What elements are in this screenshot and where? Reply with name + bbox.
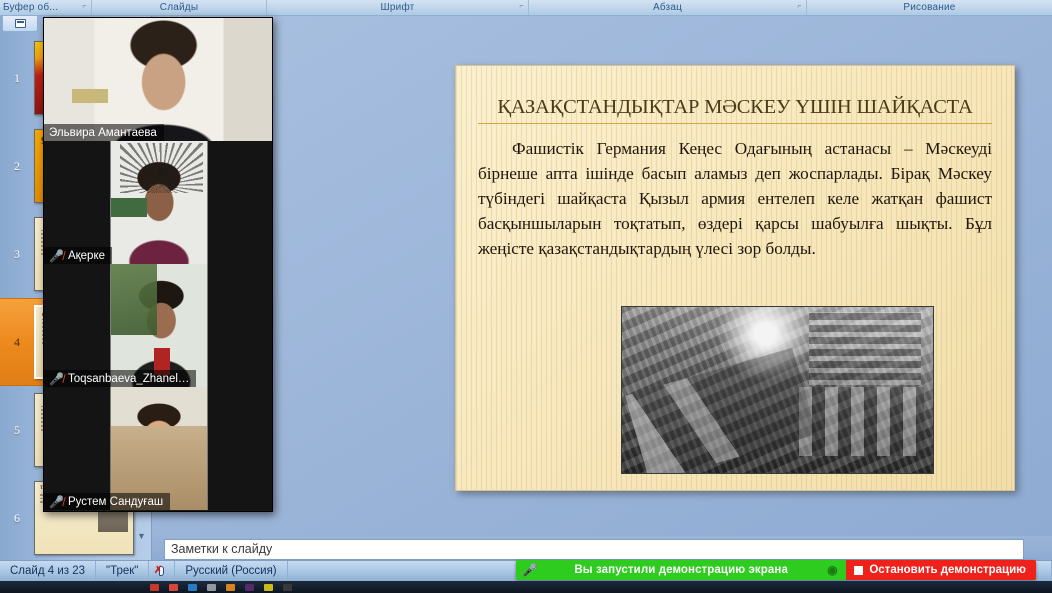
thumbnail-number: 3 [0, 247, 34, 262]
participant-name: Ақерке [68, 250, 105, 262]
stop-share-label: Остановить демонстрацию [869, 564, 1026, 576]
video-tile-participant-3[interactable]: 🎤̸ Toqsanbaeva_Zhanel… [44, 264, 273, 387]
screen-share-bar: 🎤 Вы запустили демонстрацию экрана ◉ Ост… [516, 560, 1036, 580]
wwii-battle-photo[interactable] [621, 306, 934, 474]
share-status-text: Вы запустили демонстрацию экрана [544, 564, 818, 576]
participant-video-feed [44, 141, 273, 264]
powerpoint-window: Буфер об... ⌐ Слайды Шрифт ⌐ Абзац ⌐ Рис… [0, 0, 1052, 593]
ribbon-group-clipboard[interactable]: Буфер об... ⌐ [0, 0, 92, 15]
video-tile-participant-4[interactable]: 🎤̸ Рустем Сандуғаш [44, 387, 273, 510]
mic-muted-icon: 🎤̸ [49, 373, 64, 385]
mic-muted-icon: 🎤̸ [49, 496, 64, 508]
shield-icon[interactable]: ◉ [818, 563, 846, 577]
current-slide[interactable]: ҚАЗАҚСТАНДЫҚТАР МӘСКЕУ ҮШІН ШАЙҚАСТА Фаш… [455, 65, 1015, 491]
stop-square-icon [854, 566, 863, 575]
ribbon-group-drawing[interactable]: Рисование [807, 0, 1052, 15]
slide-editing-stage[interactable]: ҚАЗАҚСТАНДЫҚТАР МӘСКЕУ ҮШІН ШАЙҚАСТА Фаш… [152, 16, 1052, 536]
ribbon-group-drawing-label: Рисование [903, 2, 955, 13]
spellcheck-icon[interactable]: ✗ [149, 561, 175, 582]
dialog-launcher-icon[interactable]: ⌐ [80, 2, 89, 11]
scroll-down-icon[interactable]: ▼ [135, 530, 148, 543]
participant-name-badge: Эльвира Амантаева [44, 124, 164, 141]
theme-name[interactable]: "Трек" [96, 561, 149, 582]
notes-pane-wrapper: Заметки к слайду [152, 536, 1052, 560]
taskbar-item[interactable] [245, 584, 254, 591]
taskbar-item[interactable] [264, 584, 273, 591]
video-tile-participant-2[interactable]: 🎤̸ Ақерке [44, 141, 273, 264]
slide-body-text[interactable]: Фашистік Германия Кеңес Одағының астанас… [478, 136, 992, 261]
ribbon-groups-strip: Буфер об... ⌐ Слайды Шрифт ⌐ Абзац ⌐ Рис… [0, 0, 1052, 16]
participant-video-feed [44, 264, 273, 387]
mic-muted-icon: 🎤̸ [49, 250, 64, 262]
participant-name: Toqsanbaeva_Zhanel… [68, 373, 189, 385]
participant-name-badge: 🎤̸ Ақерке [44, 247, 112, 264]
slides-tab-icon[interactable] [2, 16, 38, 32]
ribbon-group-font[interactable]: Шрифт ⌐ [267, 0, 529, 15]
slide-notes-input[interactable]: Заметки к слайду [164, 539, 1024, 560]
ribbon-group-slides[interactable]: Слайды [92, 0, 267, 15]
thumbnail-number: 1 [0, 71, 34, 86]
participant-name: Эльвира Амантаева [49, 127, 157, 139]
stop-share-button[interactable]: Остановить демонстрацию [846, 560, 1036, 580]
thumbnail-number: 6 [0, 511, 34, 526]
participant-video-feed [44, 18, 273, 141]
dialog-launcher-icon[interactable]: ⌐ [795, 2, 804, 11]
ribbon-group-slides-label: Слайды [160, 2, 198, 13]
microphone-icon[interactable]: 🎤 [516, 563, 544, 577]
language-indicator[interactable]: Русский (Россия) [175, 561, 287, 582]
ribbon-group-paragraph[interactable]: Абзац ⌐ [529, 0, 807, 15]
video-tile-participant-1[interactable]: Эльвира Амантаева [44, 18, 273, 141]
windows-taskbar[interactable] [0, 581, 1052, 593]
ribbon-group-paragraph-label: Абзац [653, 2, 682, 13]
participant-name: Рустем Сандуғаш [68, 496, 163, 508]
participant-name-badge: 🎤̸ Toqsanbaeva_Zhanel… [44, 370, 196, 387]
taskbar-item[interactable] [283, 584, 292, 591]
slide-counter[interactable]: Слайд 4 из 23 [0, 561, 96, 582]
zoom-video-panel[interactable]: Эльвира Амантаева 🎤̸ Ақерке 🎤̸ Toqsanbae… [43, 17, 273, 512]
ribbon-group-clipboard-label: Буфер об... [3, 2, 58, 13]
taskbar-item[interactable] [150, 584, 159, 591]
taskbar-item[interactable] [226, 584, 235, 591]
ribbon-group-font-label: Шрифт [381, 2, 415, 13]
participant-video-feed [44, 387, 273, 510]
thumbnail-number: 5 [0, 423, 34, 438]
taskbar-item[interactable] [207, 584, 216, 591]
taskbar-item[interactable] [188, 584, 197, 591]
taskbar-item[interactable] [169, 584, 178, 591]
participant-name-badge: 🎤̸ Рустем Сандуғаш [44, 493, 170, 510]
dialog-launcher-icon[interactable]: ⌐ [517, 2, 526, 11]
thumbnail-number: 4 [0, 335, 34, 350]
slide-title[interactable]: ҚАЗАҚСТАНДЫҚТАР МӘСКЕУ ҮШІН ШАЙҚАСТА [478, 96, 992, 124]
thumbnail-number: 2 [0, 159, 34, 174]
